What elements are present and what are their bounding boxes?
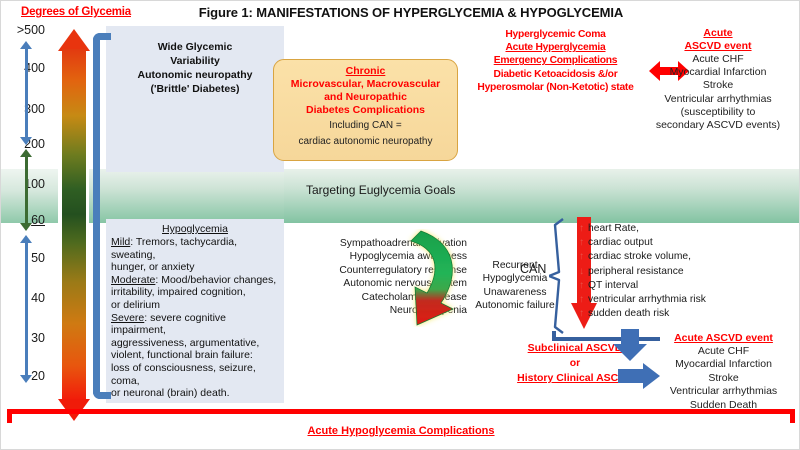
ascvd-bottom-item: Myocardial Infarction xyxy=(646,358,800,371)
hypoglycemia-range-arrow xyxy=(20,235,33,383)
panel-line: ('Brittle' Diabetes) xyxy=(106,82,284,96)
symptom-text: cardiac stroke volume, xyxy=(588,251,691,262)
figure-title: Figure 1: MANIFESTATIONS OF HYPERGLYCEMI… xyxy=(151,5,671,20)
arrow-shaft xyxy=(618,369,644,383)
wide-glycemic-variability-panel: Wide Glycemic Variability Autonomic neur… xyxy=(106,26,284,172)
symptom-text: heart Rate, xyxy=(588,223,639,234)
hypoglycemia-line: hunger, or anxiety xyxy=(111,261,279,274)
figure-canvas: Degrees of Glycemia Figure 1: MANIFESTAT… xyxy=(0,0,800,450)
arrow-shaft xyxy=(25,48,28,138)
arrow-up-icon: ↑ xyxy=(579,307,588,321)
hypoglycemia-line: or neuronal (brain) death. xyxy=(111,387,279,400)
glycemia-range-bracket xyxy=(93,33,111,399)
chronic-title: Chronic xyxy=(274,65,457,78)
recurrent-line: Autonomic failure xyxy=(469,299,561,312)
hypoglycemia-severity-panel: Hypoglycemia Mild: Tremors, tachycardia,… xyxy=(106,219,284,403)
severity-mild-label: Mild xyxy=(111,236,130,248)
acute-ascvd-event-top-block: Acute ASCVD event Acute CHF Myocardial I… xyxy=(637,27,799,132)
acute-ascvd-event-bottom-block: Acute ASCVD event Acute CHF Myocardial I… xyxy=(646,332,800,412)
ascvd-bottom-item: Stroke xyxy=(646,372,800,385)
arrow-up-icon: ↑ xyxy=(579,279,588,293)
chronic-note-line: Including CAN = xyxy=(274,120,457,133)
recurrent-hypoglycemia-block: Recurrent Hypoglycemia Unawareness Auton… xyxy=(469,259,561,313)
ascvd-heading-line: Acute xyxy=(637,27,799,40)
emergency-line: Hyperosmolar (Non-Ketotic) state xyxy=(463,81,648,94)
ascvd-item: Acute CHF xyxy=(637,53,799,66)
hypoglycemia-heading: Hypoglycemia xyxy=(111,223,279,235)
symptom-item: ↑sudden death risk xyxy=(579,307,769,321)
symptom-item: ↑QT interval xyxy=(579,279,769,293)
recurrent-line: Recurrent xyxy=(469,259,561,272)
hypoglycemia-line: violent, functional brain failure: xyxy=(111,349,279,362)
acute-hypoglycemia-complications-bracket xyxy=(7,409,795,423)
recurrent-line: Hypoglycemia xyxy=(469,272,561,285)
euglycemia-band-label: Targeting Euglycemia Goals xyxy=(306,183,455,197)
emergency-line: Acute Hyperglycemia xyxy=(463,41,648,54)
emergency-line: Emergency Complications xyxy=(463,54,648,67)
can-label: CAN xyxy=(520,262,546,276)
arrow-head-down-icon xyxy=(20,137,32,145)
arrow-up-icon: ↑ xyxy=(579,236,588,250)
arrow-head-down-icon xyxy=(20,375,32,383)
ascvd-item: Stroke xyxy=(637,79,799,92)
hypoglycemia-line: irritability, impaired cognition, xyxy=(111,286,279,299)
chronic-complications-box: Chronic Microvascular, Macrovascular and… xyxy=(273,59,458,161)
arrow-shaft xyxy=(25,156,28,224)
ascvd-bottom-item: Acute CHF xyxy=(646,345,800,358)
arrow-up-icon: ↑ xyxy=(579,250,588,264)
symptom-text: QT interval xyxy=(588,280,638,291)
hypoglycemia-line: aggressiveness, argumentative, xyxy=(111,337,279,350)
arrow-down-icon: ↓ xyxy=(579,265,588,279)
emergency-line: Hyperglycemic Coma xyxy=(463,28,648,41)
gradient-arrow-up-icon xyxy=(58,29,90,51)
symptom-text: sudden death risk xyxy=(588,308,669,319)
acute-hypoglycemia-complications-label: Acute Hypoglycemia Complications xyxy=(1,425,800,437)
hypoglycemia-line: Severe: severe cognitive impairment, xyxy=(111,312,279,337)
severity-moderate-label: Moderate xyxy=(111,274,155,286)
chronic-subtitle-line: and Neuropathic xyxy=(274,91,457,104)
symptom-text: peripheral resistance xyxy=(588,266,684,277)
hypoglycemia-line: or delirium xyxy=(111,299,279,312)
euglycemia-range-arrow xyxy=(20,149,33,231)
panel-line: Variability xyxy=(106,54,284,68)
chronic-subtitle-line: Diabetes Complications xyxy=(274,104,457,117)
gradient-bar xyxy=(62,49,86,401)
arrow-up-icon: ↑ xyxy=(579,222,588,236)
arrow-shaft xyxy=(621,329,639,345)
ascvd-item: Ventricular arrhythmias xyxy=(637,93,799,106)
euglycemia-tint-left xyxy=(89,169,284,223)
hypoglycemia-line: loss of consciousness, seizure, coma, xyxy=(111,362,279,387)
hypoglycemia-line: Mild: Tremors, tachycardia, sweating, xyxy=(111,236,279,261)
arrow-head-down-icon xyxy=(20,223,32,231)
severity-severe-label: Severe xyxy=(111,312,144,324)
can-bracket-icon xyxy=(549,217,565,335)
blue-down-arrow-icon xyxy=(613,329,647,361)
symptom-item: ↑cardiac stroke volume, xyxy=(579,250,769,264)
panel-line: Autonomic neuropathy xyxy=(106,68,284,82)
hypoglycemia-text: : Tremors, tachycardia, sweating, xyxy=(111,236,237,261)
arrow-shaft xyxy=(25,242,28,376)
symptom-item: ↑heart Rate, xyxy=(579,222,769,236)
hypoglycemia-text: : Mood/behavior changes, xyxy=(155,274,276,286)
cardiac-symptoms-list: ↑heart Rate, ↑cardiac output ↑cardiac st… xyxy=(579,222,769,321)
ascvd-heading-line: ASCVD event xyxy=(637,40,799,53)
symptom-text: cardiac output xyxy=(588,237,653,248)
ascvd-bottom-heading: Acute ASCVD event xyxy=(646,332,800,345)
chronic-subtitle-line: Microvascular, Macrovascular xyxy=(274,78,457,91)
glycemia-gradient-scale xyxy=(58,29,90,421)
ascvd-item: secondary ASCVD events) xyxy=(637,119,799,132)
arrow-head-down-icon xyxy=(613,344,647,361)
chronic-note-line: cardiac autonomic neuropathy xyxy=(274,136,457,149)
acute-hyperglycemia-emergency-block: Hyperglycemic Coma Acute Hyperglycemia E… xyxy=(463,28,648,94)
recurrent-line: Unawareness xyxy=(469,286,561,299)
curved-progression-arrow-icon xyxy=(397,229,473,327)
panel-line: Wide Glycemic xyxy=(106,40,284,54)
axis-tick-500: >500 xyxy=(9,23,45,37)
emergency-line: Diabetic Ketoacidosis &/or xyxy=(463,68,648,81)
hyperglycemia-range-arrow xyxy=(20,41,33,145)
ascvd-bottom-item: Ventricular arrhythmias xyxy=(646,385,800,398)
arrow-up-icon: ↑ xyxy=(579,293,588,307)
symptom-item: ↑ventricular arrhythmia risk xyxy=(579,293,769,307)
ascvd-item: Myocardial Infarction xyxy=(637,66,799,79)
symptom-text: ventricular arrhythmia risk xyxy=(588,294,706,305)
symptom-item: ↑cardiac output xyxy=(579,236,769,250)
symptom-item: ↓peripheral resistance xyxy=(579,265,769,279)
degrees-of-glycemia-label: Degrees of Glycemia xyxy=(6,6,146,18)
hypoglycemia-line: Moderate: Mood/behavior changes, xyxy=(111,274,279,287)
ascvd-item: (susceptibility to xyxy=(637,106,799,119)
